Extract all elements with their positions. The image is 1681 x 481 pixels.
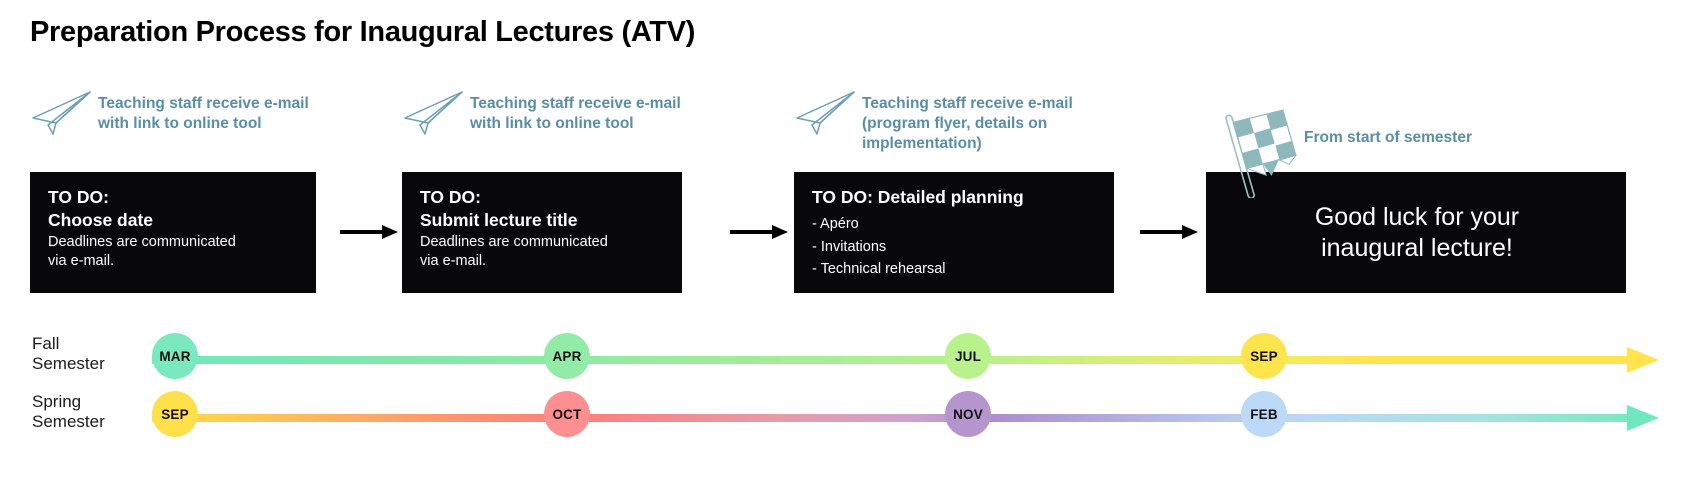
step-column-choose-date: Teaching staff receive e-mail with link … — [30, 86, 316, 293]
timeline-marker-label: NOV — [953, 407, 983, 422]
timeline-track — [152, 414, 1627, 422]
todo-box: TO DO: Submit lecture title Deadlines ar… — [402, 172, 682, 293]
timeline-marker-label: APR — [552, 349, 581, 364]
timeline-marker[interactable]: OCT — [544, 391, 590, 437]
todo-heading: TO DO: Choose date — [48, 186, 300, 232]
infographic-canvas: Preparation Process for Inaugural Lectur… — [0, 0, 1681, 481]
step-note-text: From start of semester — [1298, 86, 1472, 148]
list-item: - Invitations — [812, 236, 1098, 258]
paper-plane-icon — [402, 90, 464, 136]
timeline-fall: MAR APR JUL SEP — [152, 333, 1662, 387]
step-note-text: Teaching staff receive e-mail with link … — [470, 86, 681, 134]
step-column-submit-title: Teaching staff receive e-mail with link … — [402, 86, 682, 293]
todo-box: TO DO: Choose date Deadlines are communi… — [30, 172, 316, 293]
timeline-spring: SEP OCT NOV FEB — [152, 391, 1662, 445]
timeline-marker-label: SEP — [161, 407, 189, 422]
todo-box: TO DO: Detailed planning - Apéro - Invit… — [794, 172, 1114, 293]
list-item: - Apéro — [812, 213, 1098, 235]
step-note-text: Teaching staff receive e-mail (program f… — [862, 86, 1073, 154]
timeline-marker-label: SEP — [1250, 349, 1278, 364]
flow-arrow-1 — [340, 224, 398, 240]
todo-subtext: Deadlines are communicated via e-mail. — [420, 233, 666, 271]
timeline-marker[interactable]: MAR — [152, 333, 198, 379]
todo-bullet-list: - Apéro - Invitations - Technical rehear… — [812, 213, 1098, 280]
timeline-marker[interactable]: FEB — [1241, 391, 1287, 437]
timeline-arrowhead — [1627, 347, 1659, 373]
step-note: Teaching staff receive e-mail with link … — [30, 86, 316, 158]
step-column-detailed-planning: Teaching staff receive e-mail (program f… — [794, 86, 1114, 293]
timeline-marker-label: MAR — [159, 349, 190, 364]
step-note: Teaching staff receive e-mail with link … — [402, 86, 682, 158]
list-item: - Technical rehearsal — [812, 258, 1098, 280]
todo-heading: TO DO: Detailed planning — [812, 186, 1098, 209]
timeline-marker[interactable]: SEP — [1241, 333, 1287, 379]
page-title: Preparation Process for Inaugural Lectur… — [30, 16, 695, 49]
timeline-marker[interactable]: SEP — [152, 391, 198, 437]
timeline-marker[interactable]: JUL — [945, 333, 991, 379]
timeline-label-fall: Fall Semester — [32, 334, 105, 373]
step-note-text: Teaching staff receive e-mail with link … — [98, 86, 309, 134]
flow-arrow-2 — [730, 224, 788, 240]
todo-heading: TO DO: Submit lecture title — [420, 186, 666, 232]
timeline-marker-label: FEB — [1250, 407, 1278, 422]
timeline-marker[interactable]: APR — [544, 333, 590, 379]
paper-plane-icon — [30, 90, 92, 136]
timeline-arrowhead — [1627, 405, 1659, 431]
step-column-good-luck: From start of semester Good luck for you… — [1206, 86, 1626, 293]
timeline-marker-label: JUL — [955, 349, 981, 364]
timeline-track — [152, 356, 1627, 364]
checkered-flag-icon — [1214, 86, 1292, 156]
timeline-marker[interactable]: NOV — [945, 391, 991, 437]
paper-plane-icon — [794, 90, 856, 136]
todo-subtext: Deadlines are communicated via e-mail. — [48, 233, 300, 271]
flow-arrow-3 — [1140, 224, 1198, 240]
finish-text: Good luck for your inaugural lecture! — [1315, 202, 1519, 263]
timeline-label-spring: Spring Semester — [32, 392, 105, 431]
step-note: From start of semester — [1206, 86, 1626, 158]
step-note: Teaching staff receive e-mail (program f… — [794, 86, 1114, 158]
timeline-marker-label: OCT — [552, 407, 581, 422]
